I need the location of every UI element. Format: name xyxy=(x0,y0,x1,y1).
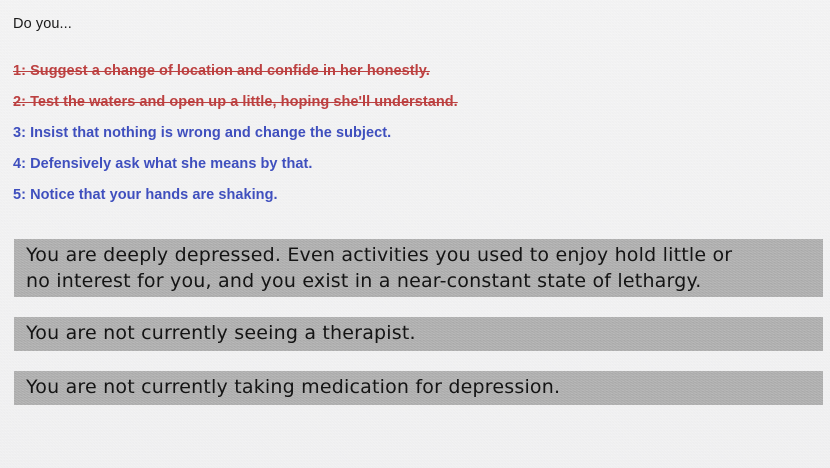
status-band-line: You are deeply depressed. Even activitie… xyxy=(26,242,813,268)
choice-option-3[interactable]: 3: Insist that nothing is wrong and chan… xyxy=(13,125,813,156)
choice-option-2: 2: Test the waters and open up a little,… xyxy=(13,94,813,125)
choice-option-5[interactable]: 5: Notice that your hands are shaking. xyxy=(13,187,813,218)
status-band-line: You are not currently seeing a therapist… xyxy=(26,320,813,346)
game-screen: Do you... 1: Suggest a change of locatio… xyxy=(0,0,830,468)
choice-list: 1: Suggest a change of location and conf… xyxy=(13,63,813,218)
status-band-medication: You are not currently taking medication … xyxy=(14,371,823,405)
page-title: Do you... xyxy=(13,15,72,33)
status-band-line: You are not currently taking medication … xyxy=(26,374,813,400)
status-band-depression: You are deeply depressed. Even activitie… xyxy=(14,239,823,297)
choice-option-4[interactable]: 4: Defensively ask what she means by tha… xyxy=(13,156,813,187)
status-band-therapist: You are not currently seeing a therapist… xyxy=(14,317,823,351)
status-band-line: no interest for you, and you exist in a … xyxy=(26,268,813,294)
choice-option-1: 1: Suggest a change of location and conf… xyxy=(13,63,813,94)
